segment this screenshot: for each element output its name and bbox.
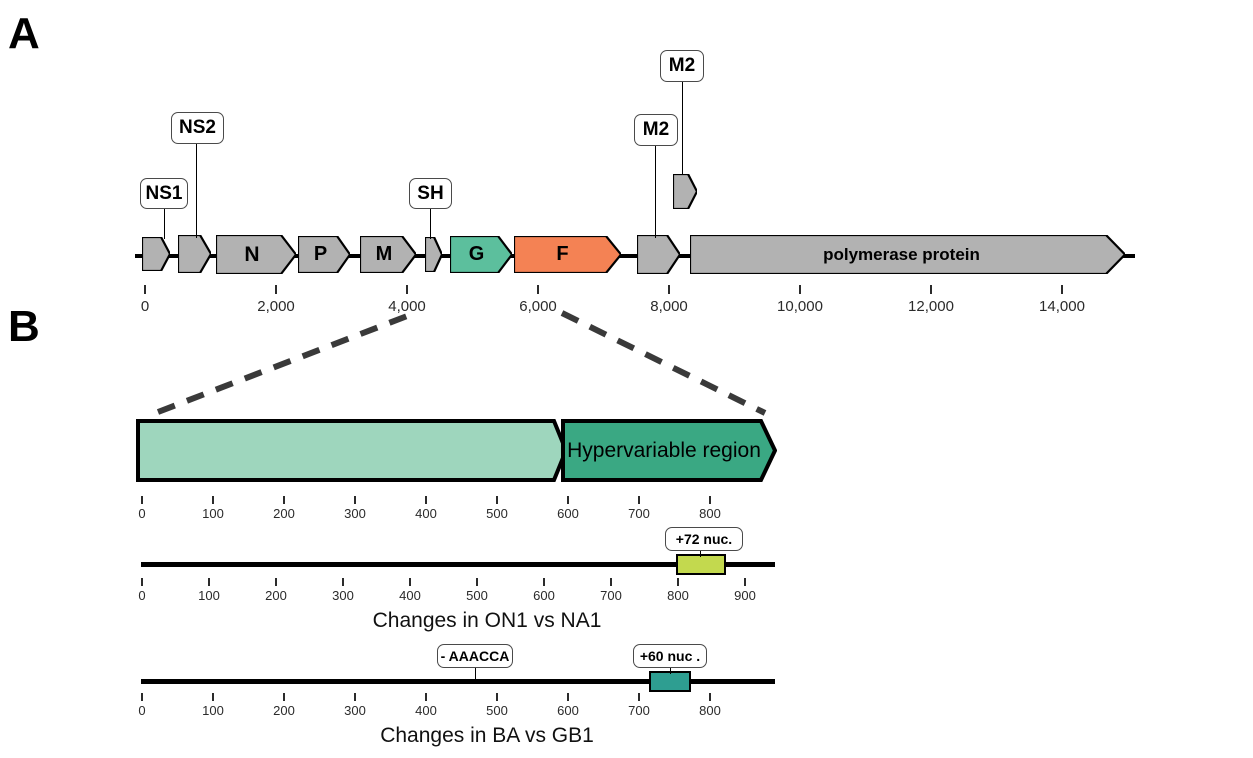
axis-g-tick-700 [638,496,640,504]
gene-shape-m2-2 [673,174,697,209]
axis-g-tick-100 [212,496,214,504]
axis-on1-label-0: 0 [138,588,145,603]
gene-arrow-m2-2[interactable] [673,174,697,209]
leader-line-sh [430,209,431,239]
axis-ba-tick-100 [212,693,214,701]
gene-label-g: G [469,243,485,266]
axis-a-tick-8000 [668,285,670,294]
axis-ba-label-0: 0 [138,703,145,718]
gene-shape-sh [425,237,442,272]
axis-a-tick-4000 [406,285,408,294]
axis-g-label-0: 0 [138,506,145,521]
panel-b-letter: B [8,305,40,349]
gene-label-f: F [556,243,568,266]
axis-a-tick-6000 [537,285,539,294]
gene-arrow-ns1[interactable] [142,237,170,271]
gene-shape-ns2 [178,235,211,273]
axis-on1-label-200: 200 [265,588,287,603]
axis-on1-label-100: 100 [198,588,220,603]
g-gene-body[interactable] [136,419,568,482]
zoom-connector-right [550,305,780,420]
axis-on1-label-300: 300 [332,588,354,603]
panel-a-letter: A [8,12,40,56]
caption-ba: Changes in BA vs GB1 [380,724,594,748]
axis-g-tick-800 [709,496,711,504]
callout-deletion-ba[interactable]: - AAACCA [437,644,513,668]
axis-ba-tick-700 [638,693,640,701]
axis-a-label-14000: 14,000 [1039,298,1085,315]
gene-label-polymerase: polymerase protein [823,245,980,265]
callout-insertion-ba[interactable]: +60 nuc . [633,644,707,668]
zoom-connector-left [140,305,430,420]
axis-on1-label-900: 900 [734,588,756,603]
callout-m2-1[interactable]: M2 [634,114,678,146]
axis-ba-label-800: 800 [699,703,721,718]
axis-on1-tick-900 [744,578,746,586]
axis-a-tick-2000 [275,285,277,294]
gene-shape-m2 [637,235,680,274]
g-gene-hypervariable-region[interactable]: Hypervariable region [561,419,777,482]
axis-g-label-300: 300 [344,506,366,521]
axis-ba-label-200: 200 [273,703,295,718]
axis-ba-tick-800 [709,693,711,701]
gene-arrow-g[interactable]: G [450,236,512,273]
axis-ba-label-400: 400 [415,703,437,718]
leader-line-insertion-on1 [700,551,701,557]
gene-shape-ns1 [142,237,170,271]
gene-arrow-ns2[interactable] [178,235,211,273]
axis-g-label-600: 600 [557,506,579,521]
axis-on1-tick-500 [476,578,478,586]
gene-arrow-sh[interactable] [425,237,442,272]
axis-on1-label-500: 500 [466,588,488,603]
axis-a-tick-0 [144,285,146,294]
caption-on1: Changes in ON1 vs NA1 [373,609,602,633]
axis-on1-label-700: 700 [600,588,622,603]
axis-g-tick-200 [283,496,285,504]
leader-line-m2-2 [682,82,683,175]
axis-g-tick-300 [354,496,356,504]
axis-on1-label-600: 600 [533,588,555,603]
leader-line-ns1 [164,209,165,239]
axis-ba-tick-600 [567,693,569,701]
insertion-box-on1[interactable] [676,554,726,575]
axis-a-tick-14000 [1061,285,1063,294]
axis-ba-tick-300 [354,693,356,701]
axis-ba-label-100: 100 [202,703,224,718]
insertion-box-ba[interactable] [649,671,691,692]
axis-ba-tick-400 [425,693,427,701]
callout-insertion-on1[interactable]: +72 nuc. [665,527,743,551]
g-gene-body-shape [136,419,568,482]
axis-g-label-800: 800 [699,506,721,521]
leader-line-ns2 [196,144,197,238]
gene-arrow-f[interactable]: F [514,236,621,273]
g-gene-hypervariable-label: Hypervariable region [567,439,761,463]
gene-arrow-m2[interactable] [637,235,680,274]
axis-a-label-12000: 12,000 [908,298,954,315]
axis-on1-tick-700 [610,578,612,586]
axis-on1-tick-800 [677,578,679,586]
axis-on1-tick-100 [208,578,210,586]
axis-g-label-100: 100 [202,506,224,521]
callout-sh[interactable]: SH [409,178,452,209]
axis-g-tick-500 [496,496,498,504]
leader-line-deletion-ba [475,668,476,682]
gene-arrow-n[interactable]: N [216,235,296,274]
axis-on1-tick-0 [141,578,143,586]
axis-ba-label-500: 500 [486,703,508,718]
axis-ba-label-300: 300 [344,703,366,718]
axis-ba-tick-500 [496,693,498,701]
leader-line-m2-1 [655,146,656,238]
gene-label-p: P [314,243,327,266]
gene-arrow-p[interactable]: P [298,236,350,273]
axis-ba-tick-0 [141,693,143,701]
leader-line-insertion-ba [670,668,671,674]
axis-on1-tick-600 [543,578,545,586]
gene-label-m: M [376,243,393,266]
axis-g-tick-0 [141,496,143,504]
axis-on1-tick-300 [342,578,344,586]
callout-ns2[interactable]: NS2 [171,112,224,144]
axis-a-label-10000: 10,000 [777,298,823,315]
axis-ba-tick-200 [283,693,285,701]
callout-m2-2[interactable]: M2 [660,50,704,82]
axis-g-label-400: 400 [415,506,437,521]
axis-g-tick-600 [567,496,569,504]
axis-on1-label-800: 800 [667,588,689,603]
axis-g-tick-400 [425,496,427,504]
gene-label-n: N [244,243,259,267]
axis-g-label-700: 700 [628,506,650,521]
axis-a-tick-12000 [930,285,932,294]
axis-ba-label-600: 600 [557,703,579,718]
callout-ns1[interactable]: NS1 [140,178,188,209]
axis-on1-tick-400 [409,578,411,586]
axis-g-label-500: 500 [486,506,508,521]
axis-a-tick-10000 [799,285,801,294]
gene-arrow-polymerase[interactable]: polymerase protein [690,235,1125,274]
gene-arrow-m[interactable]: M [360,236,416,273]
axis-ba-label-700: 700 [628,703,650,718]
axis-g-label-200: 200 [273,506,295,521]
axis-on1-tick-200 [275,578,277,586]
axis-on1-label-400: 400 [399,588,421,603]
